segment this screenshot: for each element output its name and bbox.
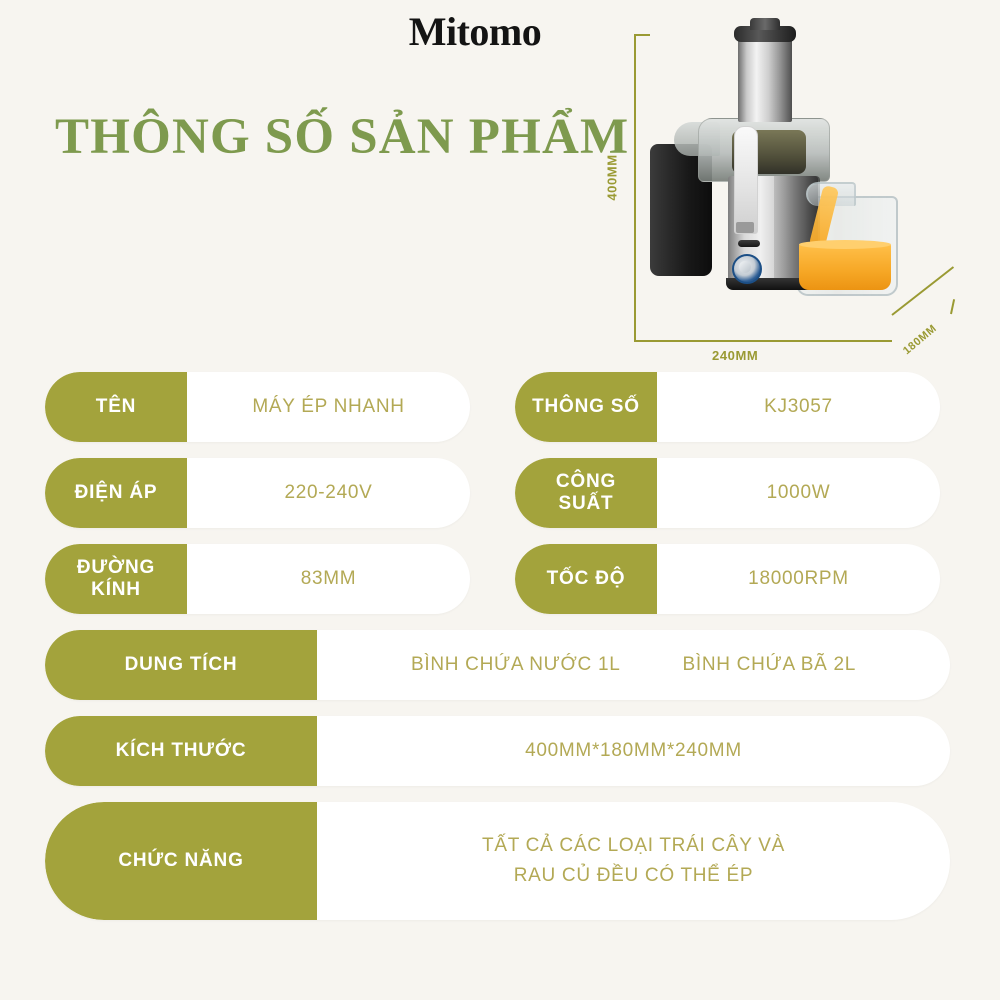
spec-row: CÔNG SUẤT 1000W <box>515 458 940 528</box>
spec-table: TÊN MÁY ÉP NHANH THÔNG SỐ KJ3057 ĐIỆN ÁP… <box>0 372 1000 936</box>
spec-label: TÊN <box>45 372 187 442</box>
juicer-illustration <box>646 26 896 338</box>
juice-liquid <box>799 244 891 290</box>
speed-knob-center <box>739 261 751 273</box>
power-switch <box>738 240 760 247</box>
spec-value: MÁY ÉP NHANH <box>187 372 470 442</box>
spec-label: KÍCH THƯỚC <box>45 716 317 786</box>
spec-value: BÌNH CHỨA NƯỚC 1L BÌNH CHỨA BÃ 2L <box>317 630 950 700</box>
spec-pill-duong-kinh: ĐƯỜNG KÍNH 83MM <box>45 544 470 614</box>
spec-value-water-tank: BÌNH CHỨA NƯỚC 1L <box>411 651 621 680</box>
spec-row: CHỨC NĂNG TẤT CẢ CÁC LOẠI TRÁI CÂY VÀ RA… <box>45 802 950 920</box>
spec-value-pulp-tank: BÌNH CHỨA BÃ 2L <box>683 651 857 680</box>
spec-pill-ten: TÊN MÁY ÉP NHANH <box>45 372 470 442</box>
spec-pill-dien-ap: ĐIỆN ÁP 220-240V <box>45 458 470 528</box>
spec-row: TỐC ĐỘ 18000RPM <box>515 544 940 614</box>
spec-pill-chuc-nang: CHỨC NĂNG TẤT CẢ CÁC LOẠI TRÁI CÂY VÀ RA… <box>45 802 950 920</box>
food-pusher <box>750 18 780 30</box>
spec-label: ĐƯỜNG KÍNH <box>45 544 187 614</box>
spec-value: 1000W <box>657 458 940 528</box>
dimension-line-depth <box>891 266 954 316</box>
spec-label: TỐC ĐỘ <box>515 544 657 614</box>
dimension-line-width <box>634 340 892 342</box>
spec-value-line-2: RAU CỦ ĐỀU CÓ THỂ ÉP <box>514 862 754 891</box>
juice-surface <box>799 240 891 249</box>
spec-label: ĐIỆN ÁP <box>45 458 187 528</box>
spec-value: KJ3057 <box>657 372 940 442</box>
spec-pill-kich-thuoc: KÍCH THƯỚC 400MM*180MM*240MM <box>45 716 950 786</box>
page-title: THÔNG SỐ SẢN PHẨM <box>55 108 629 167</box>
spec-value: TẤT CẢ CÁC LOẠI TRÁI CÂY VÀ RAU CỦ ĐỀU C… <box>317 802 950 920</box>
spec-pill-dung-tich: DUNG TÍCH BÌNH CHỨA NƯỚC 1L BÌNH CHỨA BÃ… <box>45 630 950 700</box>
feed-chute <box>738 30 792 122</box>
dimension-label-width: 240MM <box>712 348 758 363</box>
spec-row: KÍCH THƯỚC 400MM*180MM*240MM <box>45 716 950 786</box>
spec-row: ĐIỆN ÁP 220-240V <box>45 458 470 528</box>
spec-pill-toc-do: TỐC ĐỘ 18000RPM <box>515 544 940 614</box>
spec-row: ĐƯỜNG KÍNH 83MM <box>45 544 470 614</box>
spec-value: 18000RPM <box>657 544 940 614</box>
spec-label: THÔNG SỐ <box>515 372 657 442</box>
brand-plate <box>734 126 758 234</box>
spec-label: CHỨC NĂNG <box>45 802 317 920</box>
spec-value: 220-240V <box>187 458 470 528</box>
dimension-cap-width <box>634 328 636 342</box>
spec-value: 83MM <box>187 544 470 614</box>
spec-value-line-1: TẤT CẢ CÁC LOẠI TRÁI CÂY VÀ <box>482 832 785 861</box>
product-image-block: 400MM 240MM 180MM <box>612 24 988 364</box>
spec-value: 400MM*180MM*240MM <box>317 716 950 786</box>
spec-pill-cong-suat: CÔNG SUẤT 1000W <box>515 458 940 528</box>
dimension-line-height <box>634 34 636 342</box>
spec-row: TÊN MÁY ÉP NHANH <box>45 372 470 442</box>
spec-row: DUNG TÍCH BÌNH CHỨA NƯỚC 1L BÌNH CHỨA BÃ… <box>45 630 950 700</box>
brand-name: Mitomo <box>409 8 542 55</box>
dimension-label-height: 400MM <box>605 154 620 200</box>
infographic-page: Mitomo ® THÔNG SỐ SẢN PHẨM 400MM 240MM 1… <box>0 0 1000 1000</box>
dimension-cap-depth <box>950 299 955 314</box>
spec-row: THÔNG SỐ KJ3057 <box>515 372 940 442</box>
spec-label: CÔNG SUẤT <box>515 458 657 528</box>
control-display <box>736 222 754 233</box>
spec-pill-thong-so: THÔNG SỐ KJ3057 <box>515 372 940 442</box>
spec-label: DUNG TÍCH <box>45 630 317 700</box>
